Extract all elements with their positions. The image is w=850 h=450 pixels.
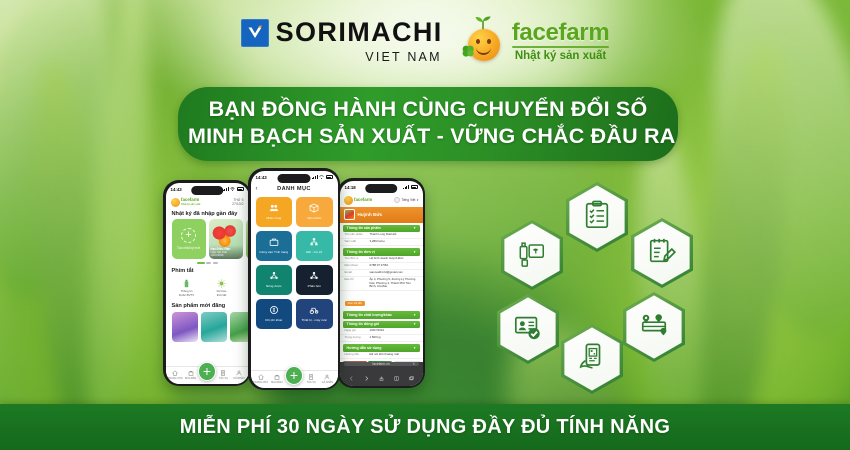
sorimachi-logo: SORIMACHI VIET NAM [241, 19, 443, 64]
back-icon[interactable] [349, 368, 354, 386]
globe-icon [394, 197, 400, 203]
coin-icon [269, 305, 279, 317]
sun-icon [216, 278, 227, 289]
people-icon [269, 203, 279, 215]
molecule-icon [309, 271, 319, 283]
site-logo: facefarm [344, 196, 373, 205]
hexagon-id-card-check[interactable] [497, 294, 559, 364]
battery-icon [237, 187, 244, 191]
nav-item-tasks[interactable]: TÁC VỤ [216, 370, 231, 380]
facefarm-logo: facefarm Nhật ký sản xuất [459, 18, 610, 64]
detail-chip-button[interactable]: Xem chi tiết [345, 301, 365, 306]
nav-item-profile[interactable]: CÁ NHÂN [231, 370, 246, 380]
category-tile-work-status[interactable]: Công việc Tình trạng [256, 231, 293, 261]
battery-icon [411, 185, 418, 189]
phone-mockup-home: 14:43 facefarm Nhật ký sản xuất [163, 180, 251, 386]
info-row: Điện thoại0788 07 9 552 [340, 263, 423, 270]
briefcase-icon [269, 237, 279, 249]
headline-banner: BẠN ĐỒNG HÀNH CÙNG CHUYỂN ĐỔI SỐ MINH BẠ… [178, 87, 678, 161]
browser-bar: facefarm.vn ↻ [340, 362, 423, 386]
nav-item-home[interactable]: TRANG CHỦ [253, 374, 269, 384]
create-journal-card[interactable]: + Tạo nhật ký mới [172, 219, 206, 259]
info-row: Tên đơn vịHộ kinh doanh Huỳnh Đức [340, 256, 423, 263]
phone-mockup-traceability: 14:18 facefarm Tiếng Việt ▾ [337, 178, 425, 388]
wifi-icon [230, 187, 235, 192]
journal-entry-date: 14/10/2025 [211, 254, 241, 257]
category-tile-products[interactable]: Sản phẩm [296, 197, 333, 227]
hexagon-phone-qr-scan[interactable] [561, 324, 623, 394]
org-icon [309, 237, 319, 249]
facefarm-tagline: Nhật ký sản xuất [515, 50, 606, 62]
chevron-left-icon[interactable]: ‹ [256, 186, 258, 192]
headline-line-1: BẠN ĐỒNG HÀNH CÙNG CHUYỂN ĐỔI SỐ [188, 96, 668, 123]
info-row: Trọng lượng1.500 kg [340, 335, 423, 342]
signal-icon [312, 175, 318, 179]
date-display: THỨ 5 27/10/2 [232, 198, 243, 207]
chevron-down-icon: ▾ [414, 346, 416, 350]
info-row: Hướng dẫnĐể nơi khô thoáng mát [340, 352, 423, 359]
category-tile-org[interactable]: Đối - Cơ sở [296, 231, 333, 261]
section-header-org[interactable]: Thông tin đơn vị▾ [343, 248, 420, 256]
url-text: facefarm.vn [372, 362, 389, 366]
create-journal-label: Tạo nhật ký mới [177, 246, 200, 250]
product-card[interactable] [230, 312, 249, 342]
journal-carousel[interactable]: + Tạo nhật ký mới Hạt Điều Rán ngày cập … [166, 219, 249, 259]
product-owner-name: Huỳnh Đức [358, 212, 383, 217]
section-header-product[interactable]: Thông tin sản phẩm▾ [343, 225, 420, 233]
headline-line-2: MINH BẠCH SẢN XUẤT - VỮNG CHẮC ĐẦU RA [188, 123, 668, 150]
nav-item-home[interactable]: TRANG CHỦ [168, 370, 183, 380]
pesticide-bottle-icon [181, 278, 192, 289]
signal-icon [223, 187, 229, 191]
signal-icon [403, 185, 409, 189]
add-fab-button[interactable]: + [198, 362, 215, 381]
phone-notch [277, 174, 310, 183]
add-fab-button[interactable]: + [285, 366, 303, 385]
phone-notch [191, 186, 223, 195]
info-row: Tên sản phẩmThanh Long Ruột Đỏ [340, 232, 423, 239]
wifi-icon [319, 175, 324, 180]
hexagon-pesticide-bottles[interactable] [501, 220, 563, 290]
id-card-check-icon [513, 312, 543, 347]
status-time: 14:43 [171, 187, 182, 192]
bottom-nav: TRANG CHỦ MUA BÁN + TÁC VỤ CÁ NHÂN [166, 366, 249, 384]
tabs-icon[interactable] [409, 368, 414, 386]
sorimachi-subtitle: VIET NAM [365, 50, 441, 64]
chevron-down-icon: ▾ [414, 313, 416, 317]
phone-qr-scan-icon [577, 342, 607, 377]
shortcuts-row: Thông tin thuốc BVTV Dự báo thời tiết [166, 277, 249, 300]
clipboard-checklist-icon [582, 200, 612, 235]
clover-icon [461, 44, 475, 63]
category-tile-other-costs[interactable]: Chi phí khác [256, 299, 293, 329]
site-header: facefarm Tiếng Việt ▾ [340, 194, 423, 206]
facefarm-name: facefarm [512, 21, 610, 45]
categories-header: ‹ DANH MỤC [251, 184, 338, 195]
address-bar[interactable]: facefarm.vn ↻ [344, 362, 419, 366]
status-time: 14:43 [256, 175, 267, 180]
share-icon[interactable] [379, 368, 384, 386]
forward-icon[interactable] [364, 368, 369, 386]
machine-icon [309, 305, 319, 317]
phone-notch [365, 184, 397, 193]
smiley-face-icon [171, 198, 180, 207]
info-row: Sản xuất3,289 ha/vụ [340, 239, 423, 246]
category-tile-fertilizer[interactable]: Phân bón [296, 265, 333, 295]
footer-banner: MIỄN PHÍ 30 NGÀY SỬ DỤNG ĐẦY ĐỦ TÍNH NĂN… [0, 404, 850, 450]
language-switcher[interactable]: Tiếng Việt ▾ [394, 197, 419, 203]
nav-item-market[interactable]: MUA BÁN [183, 370, 198, 380]
section-header-quality[interactable]: Thông tin chất lượng/khác▾ [343, 311, 420, 319]
app-logo-bar: facefarm Nhật ký sản xuất THỨ 5 27/10/2 [166, 196, 249, 208]
section-title-journal: Nhật ký đã nhập gần đây [166, 208, 249, 220]
v-logo-icon [241, 19, 269, 47]
molecule-icon [269, 271, 279, 283]
app-logo: facefarm Nhật ký sản xuất [171, 198, 201, 207]
bookmarks-icon[interactable] [394, 368, 399, 386]
chevron-down-icon: ▾ [414, 226, 416, 230]
page-title: DANH MỤC [277, 186, 311, 192]
hexagon-notepad-pencil[interactable] [631, 218, 693, 288]
smiley-face-icon [344, 196, 353, 205]
avatar [344, 209, 355, 220]
field-map-pins-icon [639, 310, 669, 345]
category-tile-labor[interactable]: Nhân công [256, 197, 293, 227]
facefarm-underline [512, 46, 610, 48]
info-row: Địa chỉẤp 4, Phường 5, đường Lý Thường K… [340, 277, 423, 291]
reload-icon[interactable]: ↻ [412, 362, 415, 366]
product-card[interactable] [172, 312, 198, 342]
nav-item-tasks[interactable]: TÁC VỤ [303, 374, 319, 384]
info-row: Ngày gói10/07/2024 [340, 328, 423, 335]
nav-item-profile[interactable]: CÁ NHÂN [319, 374, 335, 384]
chevron-down-icon: ▾ [414, 322, 416, 326]
info-row: Emailsanxuat01.hd@gmail.com [340, 270, 423, 277]
pesticide-bottles-icon [517, 238, 547, 273]
app-logo-tagline: Nhật ký sản xuất [181, 203, 200, 206]
section-header-usage[interactable]: Hướng dẫn sử dụng▾ [343, 344, 420, 352]
shortcut-pesticide-info[interactable]: Thông tin thuốc BVTV [174, 278, 200, 298]
product-owner-bar: Huỳnh Đức [340, 207, 423, 223]
notepad-pencil-icon [647, 236, 677, 271]
section-title-shortcuts: Phím tắt [166, 265, 249, 277]
brand-header: SORIMACHI VIET NAM [0, 18, 850, 64]
bottom-nav: TRANG CHỦ MUA BÁN + TÁC VỤ CÁ NHÂN [251, 370, 338, 388]
product-list[interactable] [166, 312, 249, 342]
journal-entry-card[interactable]: Hạt Điều Rán ngày cập nhật 14/10/2025 [209, 219, 243, 259]
hexagon-clipboard-checklist[interactable] [566, 182, 628, 252]
feature-hexagons [495, 182, 700, 382]
footer-text: MIỄN PHÍ 30 NGÀY SỬ DỤNG ĐẦY ĐỦ TÍNH NĂN… [180, 416, 670, 439]
nav-item-market[interactable]: MUA BÁN [269, 374, 285, 384]
category-tile-agrochemicals[interactable]: Nông dược [256, 265, 293, 295]
chevron-down-icon: ▾ [417, 198, 419, 202]
phone-mockup-categories: 14:43 ‹ DANH MỤC Nhân côn [248, 168, 340, 390]
product-card[interactable] [201, 312, 227, 342]
chevron-down-icon: ▾ [414, 250, 416, 254]
battery-icon [326, 175, 333, 179]
plus-icon: + [181, 228, 196, 243]
sorimachi-name: SORIMACHI [276, 19, 443, 46]
category-tile-machinery[interactable]: Thiết bị - máy móc [296, 299, 333, 329]
section-title-products: Sản phẩm mới đăng [166, 300, 249, 312]
section-header-packaging[interactable]: Thông tin đóng gói▾ [343, 321, 420, 329]
shortcut-weather-forecast[interactable]: Dự báo thời tiết [209, 278, 235, 298]
phone-mockups: 14:43 facefarm Nhật ký sản xuất [155, 168, 460, 393]
facefarm-mascot-icon [459, 18, 507, 64]
status-time: 14:18 [345, 185, 356, 190]
hexagon-field-map-pins[interactable] [623, 292, 685, 362]
box-icon [309, 203, 319, 215]
category-grid: Nhân công Sản phẩm Công việc Tình trạng [251, 195, 338, 331]
